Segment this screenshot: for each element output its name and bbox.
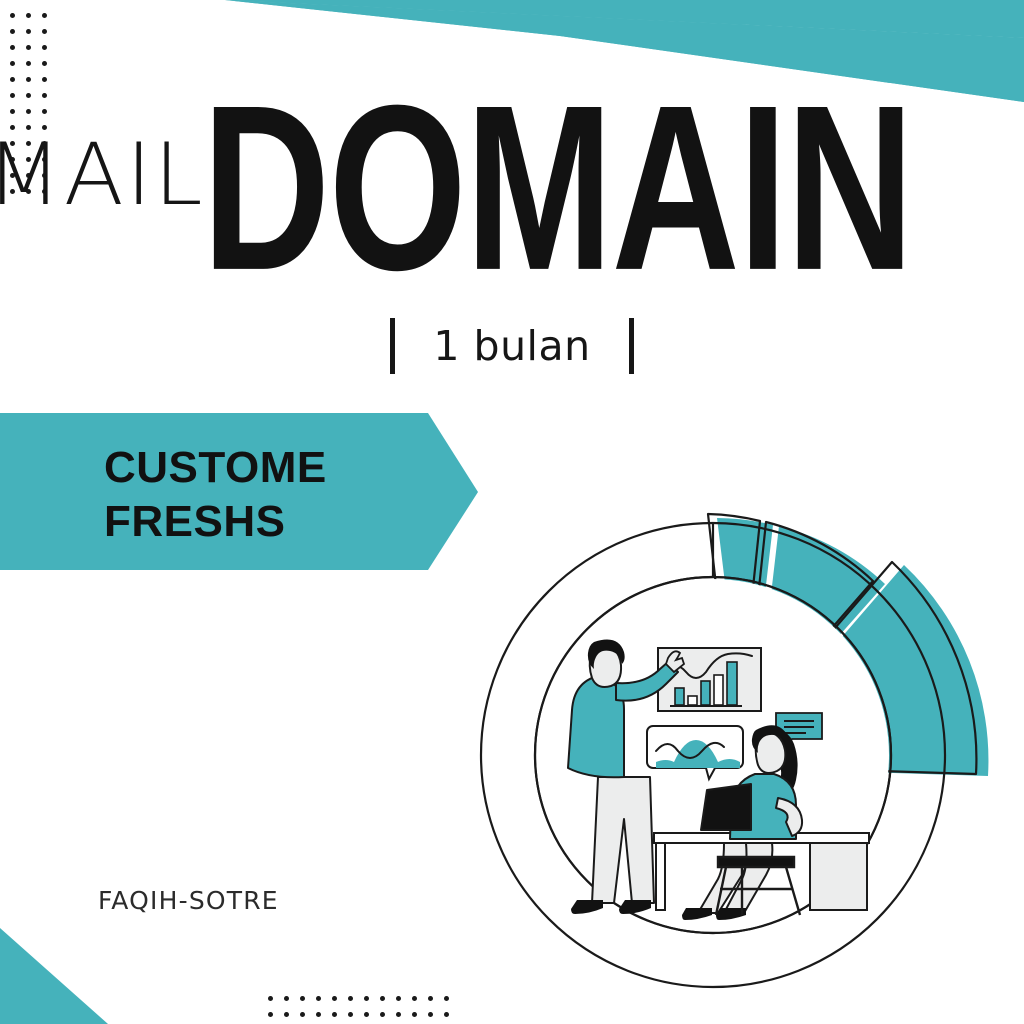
grid-bottom-dot (380, 1012, 385, 1017)
grid-bottom-dot (412, 996, 417, 1001)
grid-bottom-dot (332, 996, 337, 1001)
grid-bottom-dot (444, 996, 449, 1001)
grid-bottom-dot (412, 1012, 417, 1017)
grid-bottom-dot (396, 1012, 401, 1017)
grid-bottom-dot (300, 1012, 305, 1017)
grid-bottom-dot (316, 996, 321, 1001)
grid-bottom-dot (444, 1012, 449, 1017)
grid-bottom-dot (396, 996, 401, 1001)
grid-bottom-dot (364, 996, 369, 1001)
grid-bottom-dot (268, 996, 273, 1001)
grid-bottom-dot (332, 1012, 337, 1017)
grid-bottom-dot (348, 1012, 353, 1017)
grid-bottom-dot (284, 996, 289, 1001)
grid-bottom-dot (300, 996, 305, 1001)
poster-canvas: EMAILDOMAIN 1 bulan CUSTOME FRESHS FAQIH… (0, 0, 1024, 1024)
grid-bottom-dot (284, 1012, 289, 1017)
grid-bottom-dot (268, 1012, 273, 1017)
grid-bottom-dot (364, 1012, 369, 1017)
grid-bottom-dot (316, 1012, 321, 1017)
grid-bottom-dot (348, 996, 353, 1001)
grid-bottom-dot (428, 996, 433, 1001)
analytics-illustration (470, 480, 1024, 1024)
grid-bottom-dot (380, 996, 385, 1001)
grid-bottom-dot (428, 1012, 433, 1017)
